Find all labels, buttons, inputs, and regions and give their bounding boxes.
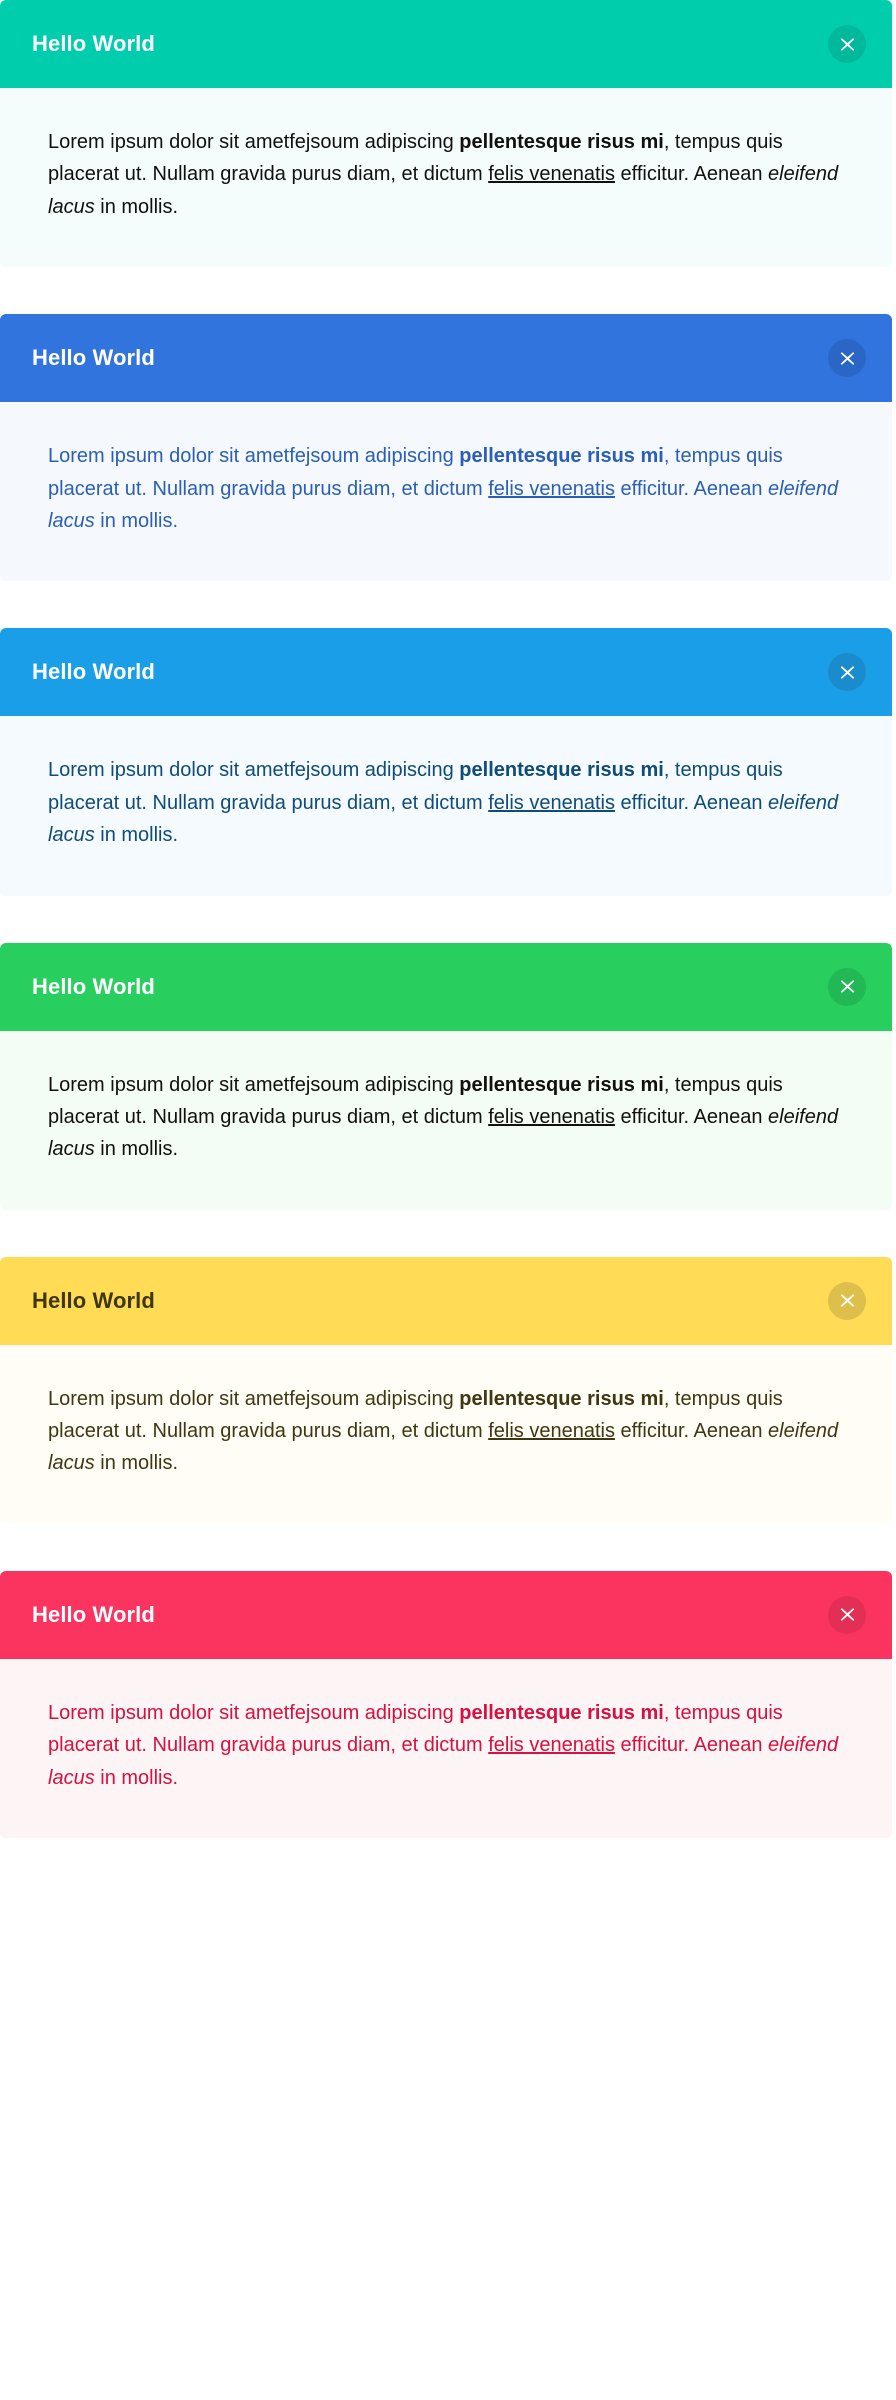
close-button-green[interactable] (828, 968, 866, 1006)
alert-body: Lorem ipsum dolor sit ametfejsoum adipis… (0, 1031, 892, 1210)
text-after-link: efficitur. Aenean (615, 1106, 768, 1128)
text-tail: in mollis. (95, 510, 178, 532)
alert-paragraph: Lorem ipsum dolor sit ametfejsoum adipis… (48, 754, 844, 851)
text-tail: in mollis. (95, 1452, 178, 1474)
close-icon (840, 979, 855, 994)
text-lead: Lorem ipsum dolor sit ametfejsoum adipis… (48, 131, 459, 153)
close-button-yellow[interactable] (828, 1282, 866, 1320)
alert-body: Lorem ipsum dolor sit ametfejsoum adipis… (0, 402, 892, 581)
alert-card-crimson: Hello World Lorem ipsum dolor sit ametfe… (0, 1571, 892, 1838)
alert-title: Hello World (32, 1290, 155, 1312)
alert-title: Hello World (32, 347, 155, 369)
alert-header-teal: Hello World (0, 0, 892, 88)
text-bold: pellentesque risus mi (459, 445, 664, 467)
text-lead: Lorem ipsum dolor sit ametfejsoum adipis… (48, 1388, 459, 1410)
alert-header-blue: Hello World (0, 314, 892, 402)
text-lead: Lorem ipsum dolor sit ametfejsoum adipis… (48, 759, 459, 781)
alert-title: Hello World (32, 661, 155, 683)
alert-card-blue: Hello World Lorem ipsum dolor sit ametfe… (0, 314, 892, 581)
alert-header-yellow: Hello World (0, 1257, 892, 1345)
alert-title: Hello World (32, 976, 155, 998)
text-lead: Lorem ipsum dolor sit ametfejsoum adipis… (48, 1702, 459, 1724)
alert-body: Lorem ipsum dolor sit ametfejsoum adipis… (0, 88, 892, 267)
alert-title: Hello World (32, 1604, 155, 1626)
alert-paragraph: Lorem ipsum dolor sit ametfejsoum adipis… (48, 1383, 844, 1480)
alert-title: Hello World (32, 33, 155, 55)
text-lead: Lorem ipsum dolor sit ametfejsoum adipis… (48, 1074, 459, 1096)
text-lead: Lorem ipsum dolor sit ametfejsoum adipis… (48, 445, 459, 467)
close-button-teal[interactable] (828, 25, 866, 63)
close-icon (840, 37, 855, 52)
text-bold: pellentesque risus mi (459, 759, 664, 781)
felis-venenatis-link[interactable]: felis venenatis (488, 1106, 615, 1128)
felis-venenatis-link[interactable]: felis venenatis (488, 478, 615, 500)
text-bold: pellentesque risus mi (459, 1388, 664, 1410)
text-bold: pellentesque risus mi (459, 131, 664, 153)
alert-body: Lorem ipsum dolor sit ametfejsoum adipis… (0, 716, 892, 895)
alert-stack: Hello World Lorem ipsum dolor sit ametfe… (0, 0, 896, 1838)
alert-card-teal: Hello World Lorem ipsum dolor sit ametfe… (0, 0, 892, 267)
text-tail: in mollis. (95, 824, 178, 846)
alert-card-cyan: Hello World Lorem ipsum dolor sit ametfe… (0, 628, 892, 895)
alert-header-crimson: Hello World (0, 1571, 892, 1659)
alert-header-cyan: Hello World (0, 628, 892, 716)
text-after-link: efficitur. Aenean (615, 163, 768, 185)
close-icon (840, 1293, 855, 1308)
text-tail: in mollis. (95, 1138, 178, 1160)
close-icon (840, 351, 855, 366)
text-after-link: efficitur. Aenean (615, 1420, 768, 1442)
text-after-link: efficitur. Aenean (615, 792, 768, 814)
alert-paragraph: Lorem ipsum dolor sit ametfejsoum adipis… (48, 126, 844, 223)
felis-venenatis-link[interactable]: felis venenatis (488, 1420, 615, 1442)
alert-body: Lorem ipsum dolor sit ametfejsoum adipis… (0, 1345, 892, 1524)
close-icon (840, 665, 855, 680)
text-after-link: efficitur. Aenean (615, 1734, 768, 1756)
text-tail: in mollis. (95, 1767, 178, 1789)
alert-paragraph: Lorem ipsum dolor sit ametfejsoum adipis… (48, 1697, 844, 1794)
close-button-cyan[interactable] (828, 653, 866, 691)
close-button-crimson[interactable] (828, 1596, 866, 1634)
felis-venenatis-link[interactable]: felis venenatis (488, 1734, 615, 1756)
alert-header-green: Hello World (0, 943, 892, 1031)
alert-card-green: Hello World Lorem ipsum dolor sit ametfe… (0, 943, 892, 1210)
alert-paragraph: Lorem ipsum dolor sit ametfejsoum adipis… (48, 1069, 844, 1166)
text-bold: pellentesque risus mi (459, 1702, 664, 1724)
close-button-blue[interactable] (828, 339, 866, 377)
alert-body: Lorem ipsum dolor sit ametfejsoum adipis… (0, 1659, 892, 1838)
text-tail: in mollis. (95, 196, 178, 218)
close-icon (840, 1607, 855, 1622)
felis-venenatis-link[interactable]: felis venenatis (488, 792, 615, 814)
alert-paragraph: Lorem ipsum dolor sit ametfejsoum adipis… (48, 440, 844, 537)
text-after-link: efficitur. Aenean (615, 478, 768, 500)
alert-card-yellow: Hello World Lorem ipsum dolor sit ametfe… (0, 1257, 892, 1524)
text-bold: pellentesque risus mi (459, 1074, 664, 1096)
felis-venenatis-link[interactable]: felis venenatis (488, 163, 615, 185)
